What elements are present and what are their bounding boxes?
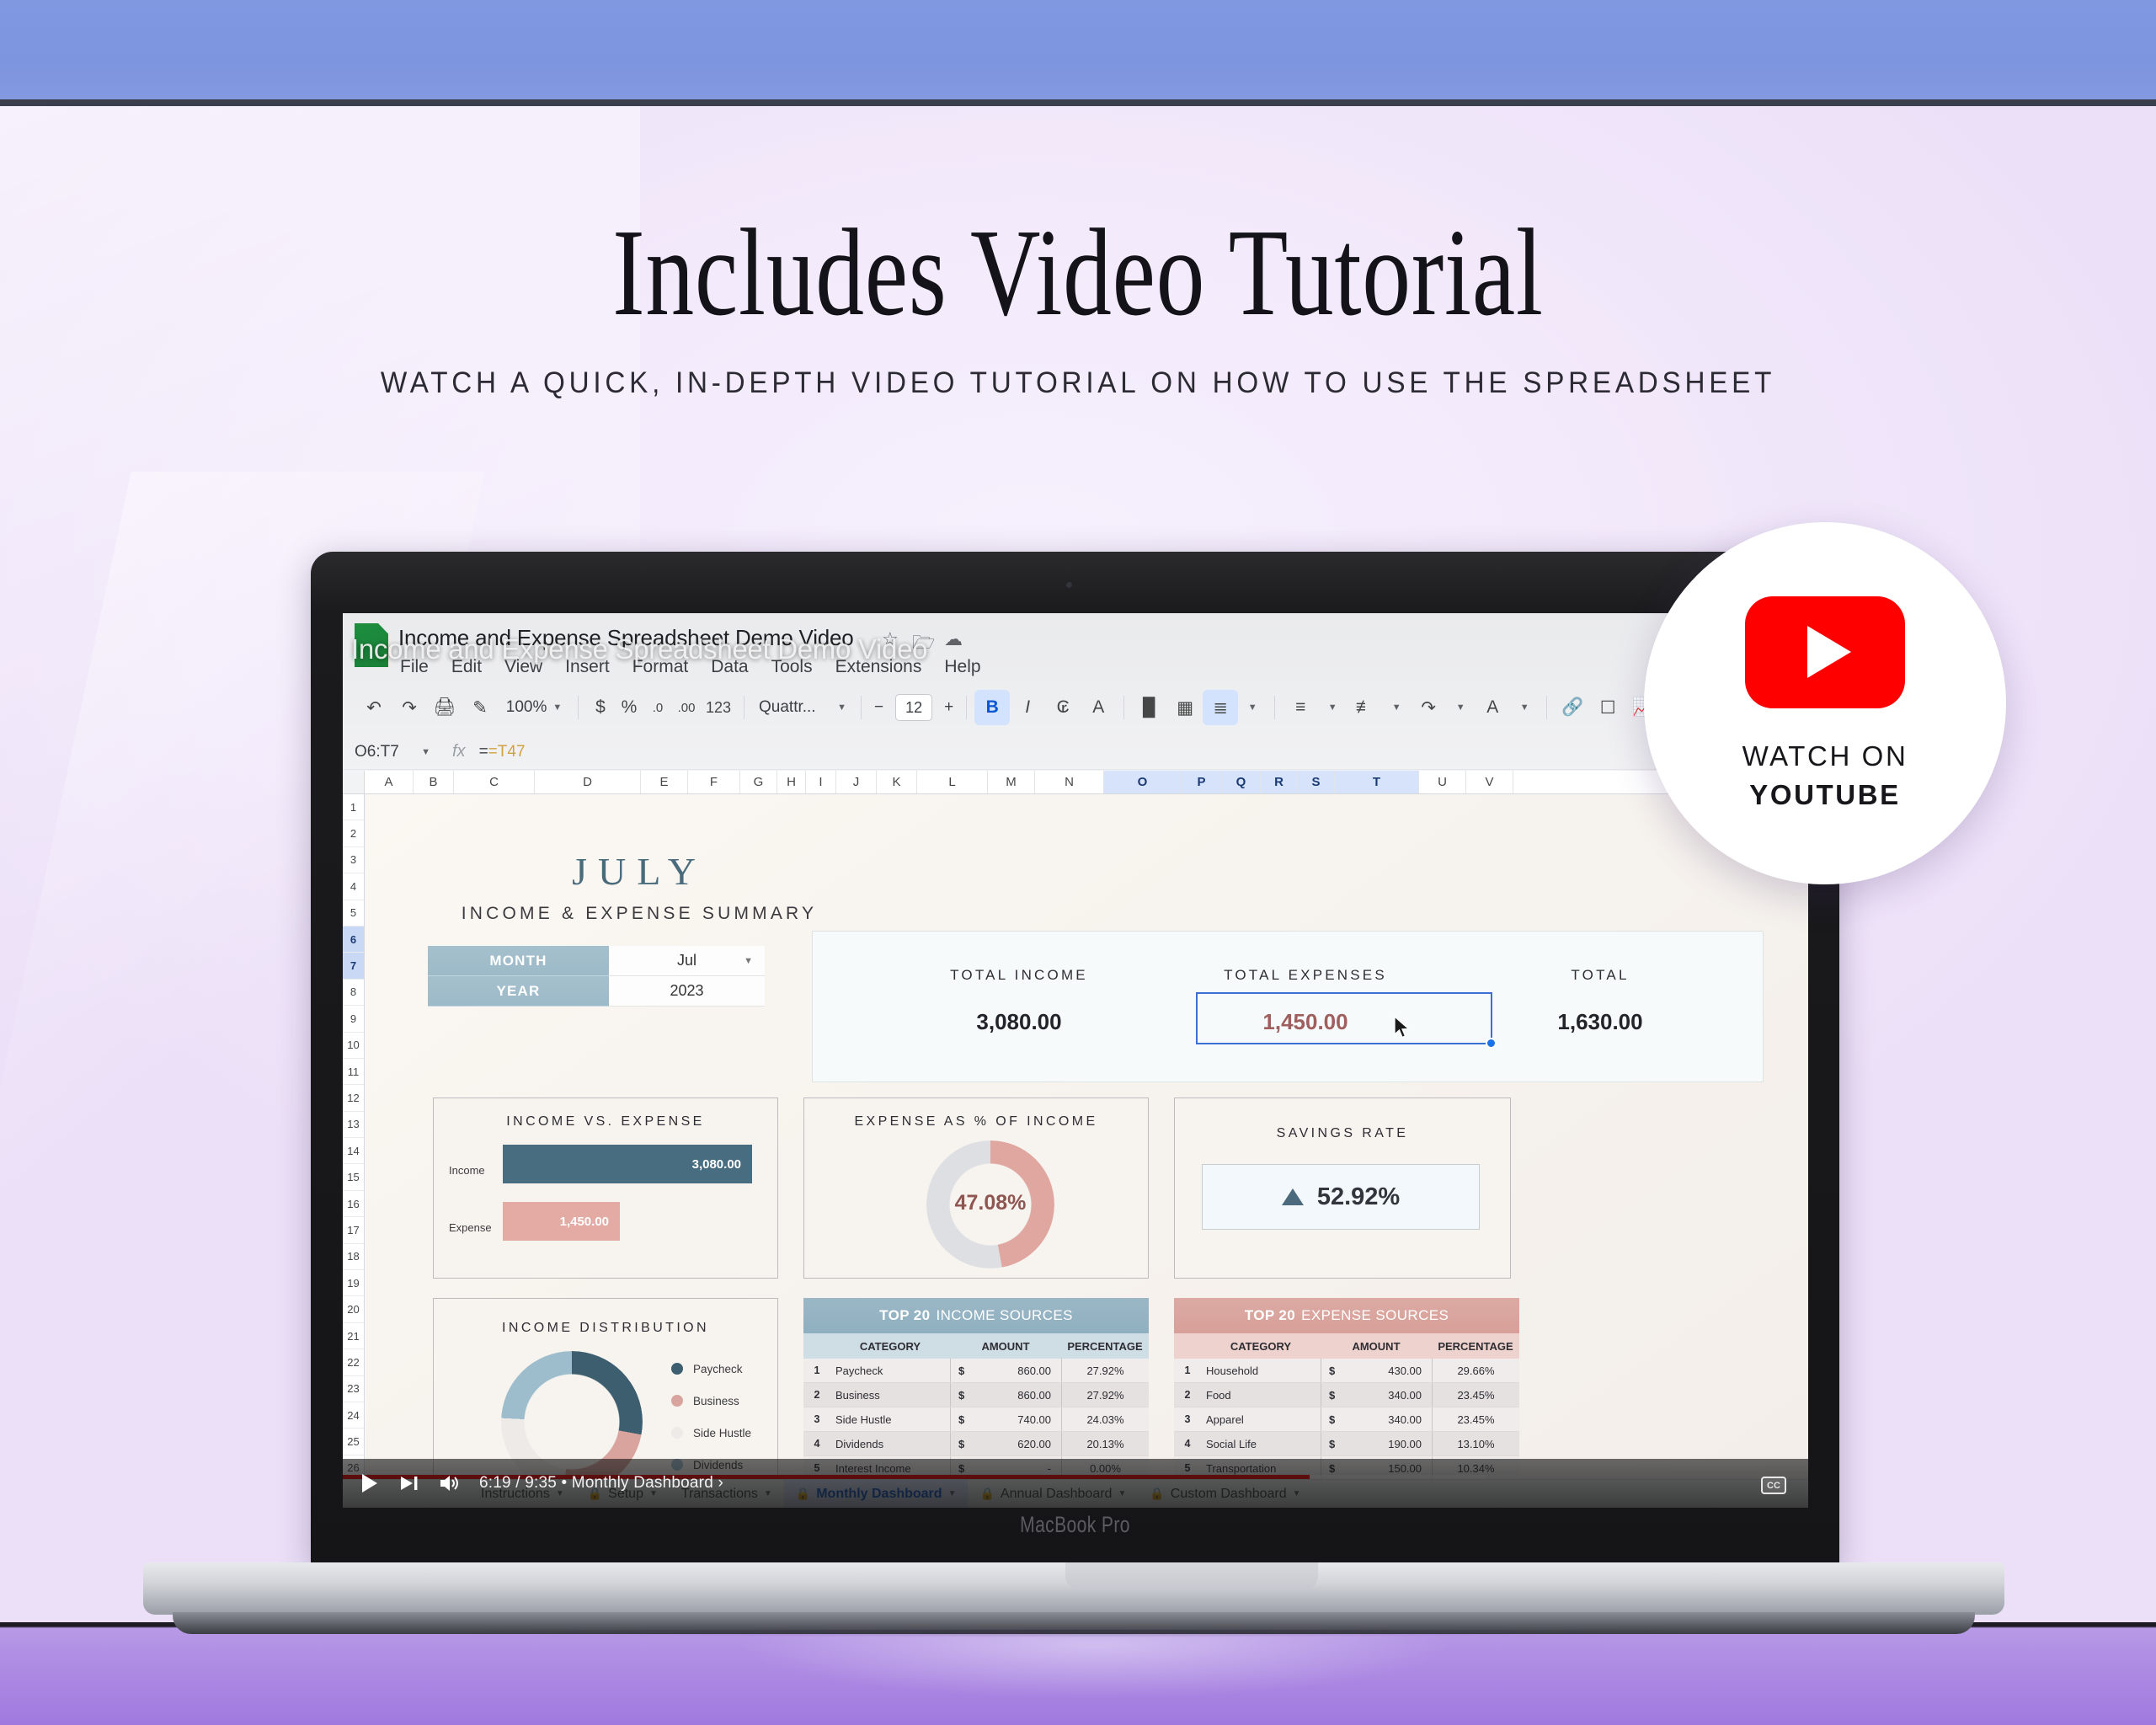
income-table-title-rest: INCOME SOURCES [936,1307,1072,1324]
row-index: 2 [803,1389,830,1401]
column-header-s[interactable]: S [1298,771,1335,793]
total-income-label: TOTAL INCOME [863,967,1175,984]
row-header-12[interactable]: 12 [343,1085,364,1111]
column-header-k[interactable]: K [877,771,917,793]
currency-symbol: $ [951,1438,973,1450]
decrease-decimal-icon[interactable]: .0 [643,690,672,725]
row-header-7[interactable]: 7 [343,953,364,979]
table-row: 1Paycheck$860.0027.92% [803,1359,1149,1383]
zoom-value: 100% [506,698,547,717]
bar-category-income: Income [449,1164,485,1177]
legend-item: Business [671,1390,751,1412]
amount-value: 430.00 [1343,1365,1432,1377]
income-distribution-title: INCOME DISTRIBUTION [434,1321,777,1336]
column-header-o[interactable]: O [1104,771,1182,793]
row-header-15[interactable]: 15 [343,1164,364,1190]
background-top-strip [0,0,2156,99]
row-header-11[interactable]: 11 [343,1059,364,1085]
row-header-14[interactable]: 14 [343,1138,364,1164]
font-size-value[interactable]: 12 [895,694,932,721]
laptop-base-notch [1065,1562,1318,1589]
insert-link-icon[interactable]: 🔗 [1555,690,1590,725]
increase-font-size-icon[interactable]: + [939,698,958,717]
legend-swatch-side-hustle [671,1427,683,1439]
legend-label-side-hustle: Side Hustle [693,1427,751,1439]
total-value: 1,630.00 [1478,1009,1722,1035]
column-header-u[interactable]: U [1419,771,1466,793]
column-header-v[interactable]: V [1466,771,1513,793]
row-amount: $620.00 [950,1432,1061,1455]
row-header-18[interactable]: 18 [343,1244,364,1270]
amount-value: 190.00 [1343,1438,1432,1450]
income-header-percentage: PERCENTAGE [1061,1340,1149,1353]
zoom-selector[interactable]: 100% ▼ [498,693,570,722]
font-family-selector[interactable]: Quattr... ▼ [752,693,853,722]
expense-table-title-rest: EXPENSE SOURCES [1301,1307,1449,1324]
more-formats-icon[interactable]: 123 [701,690,736,725]
redo-icon[interactable]: ↷ [392,690,427,725]
laptop-screen: Income and Expense Spreadsheet Demo Vide… [343,613,1808,1508]
total-income-value: 3,080.00 [863,1009,1175,1035]
column-headers: ABCDEFGHIJKLMNOPQRSTUV [343,771,1808,794]
column-header-h[interactable]: H [777,771,806,793]
currency-symbol: $ [1321,1438,1343,1450]
row-percentage: 24.03% [1061,1407,1149,1431]
chevron-down-icon: ▼ [744,956,753,966]
row-header-10[interactable]: 10 [343,1033,364,1059]
chevron-down-icon: ▼ [421,747,430,757]
toolbar-divider-2 [744,696,744,719]
year-value-cell[interactable]: 2023 [609,976,765,1007]
row-header-1[interactable]: 1 [343,794,364,820]
decrease-font-size-icon[interactable]: − [869,698,889,717]
income-table-header-row: CATEGORY AMOUNT PERCENTAGE [803,1333,1149,1359]
row-index: 1 [803,1365,830,1376]
year-value: 2023 [670,982,703,1000]
amount-value: 860.00 [973,1365,1061,1377]
row-amount: $430.00 [1321,1359,1432,1382]
row-header-5[interactable]: 5 [343,900,364,927]
valign-dropdown-icon[interactable]: ▼ [1382,690,1411,725]
laptop-mockup: Income and Expense Spreadsheet Demo Vide… [303,552,1853,1638]
monthly-dashboard-sheet: JULY INCOME & EXPENSE SUMMARY MONTH Jul … [366,794,1808,1508]
table-row: 3Side Hustle$740.0024.03% [803,1407,1149,1432]
amount-value: 860.00 [973,1389,1061,1402]
toolbar-divider-3 [861,696,862,719]
increase-decimal-icon[interactable]: .00 [672,690,701,725]
dashboard-subtitle: INCOME & EXPENSE SUMMARY [433,904,846,924]
savings-rate-title: SAVINGS RATE [1175,1126,1510,1141]
row-header-13[interactable]: 13 [343,1112,364,1138]
currency-symbol: $ [1321,1389,1343,1402]
rotation-dropdown-icon[interactable]: ▼ [1510,690,1539,725]
income-vs-expense-card: INCOME VS. EXPENSE Income 3,080.00 Expen… [433,1097,778,1279]
row-index: 3 [1174,1413,1201,1425]
paint-format-icon[interactable]: ✎ [462,690,498,725]
row-percentage: 27.92% [1061,1359,1149,1382]
print-icon[interactable]: 🖨 [427,690,462,725]
income-header-category: CATEGORY [830,1340,950,1353]
column-header-d[interactable]: D [535,771,641,793]
volume-icon[interactable] [439,1473,461,1493]
font-family-value: Quattr... [759,698,816,717]
badge-line-2: YOUTUBE [1749,779,1901,811]
row-index: 4 [1174,1438,1201,1450]
expense-header-category: CATEGORY [1201,1340,1321,1353]
income-table-title: TOP 20 INCOME SOURCES [803,1298,1149,1333]
income-vs-expense-title: INCOME VS. EXPENSE [434,1114,777,1130]
row-category: Side Hustle [830,1413,950,1426]
column-header-t[interactable]: T [1335,771,1419,793]
row-header-16[interactable]: 16 [343,1191,364,1217]
legend-item: Paycheck [671,1358,751,1380]
totals-panel: TOTAL INCOME 3,080.00 TOTAL EXPENSES 1,4… [812,931,1764,1082]
arrow-up-icon [1282,1188,1304,1205]
currency-symbol: $ [1321,1365,1343,1377]
row-index: 1 [1174,1365,1201,1376]
percent-format-icon[interactable]: % [615,690,643,725]
sheets-titlebar: Income and Expense Spreadsheet Demo Vide… [343,613,1808,674]
watch-on-youtube-badge[interactable]: WATCH ON YOUTUBE [1644,522,2006,884]
table-row: 3Apparel$340.0023.45% [1174,1407,1519,1432]
column-header-g[interactable]: G [740,771,777,793]
merge-dropdown-icon[interactable]: ▼ [1238,690,1267,725]
legend-swatch-business [671,1395,683,1407]
bar-category-expense: Expense [449,1221,492,1234]
formula-value: =T47 [488,743,526,761]
legend-label-paycheck: Paycheck [693,1363,743,1375]
row-header-21[interactable]: 21 [343,1323,364,1349]
currency-format-icon[interactable]: $ [586,690,615,725]
video-controls-bar: 6:19 / 9:35 • Monthly Dashboard › [343,1459,1808,1508]
chevron-down-icon: ▼ [552,702,562,713]
strikethrough-icon[interactable]: ₢ [1045,690,1081,725]
bar-expense: 1,450.00 [503,1202,620,1241]
row-amount: $860.00 [950,1383,1061,1407]
total-label: TOTAL [1478,967,1722,984]
amount-value: 740.00 [973,1413,1061,1426]
row-header-19[interactable]: 19 [343,1270,364,1296]
row-category: Food [1201,1389,1321,1402]
row-header-23[interactable]: 23 [343,1376,364,1402]
income-header-amount: AMOUNT [950,1340,1061,1353]
row-category: Social Life [1201,1438,1321,1450]
expense-table-header-row: CATEGORY AMOUNT PERCENTAGE [1174,1333,1519,1359]
row-header-2[interactable]: 2 [343,820,364,846]
bold-icon[interactable]: B [974,690,1010,725]
background-top-edge [0,99,2156,106]
table-row: 4Social Life$190.0013.10% [1174,1432,1519,1456]
toolbar-divider [578,696,579,719]
currency-symbol: $ [951,1413,973,1426]
select-all-corner[interactable] [343,771,365,793]
play-icon[interactable] [360,1472,380,1494]
expense-table-title: TOP 20 EXPENSE SOURCES [1174,1298,1519,1333]
currency-symbol: $ [951,1365,973,1377]
row-header-4[interactable]: 4 [343,873,364,900]
amount-value: 620.00 [973,1438,1061,1450]
year-label: YEAR [428,976,609,1007]
column-header-i[interactable]: I [806,771,836,793]
month-dropdown[interactable]: Jul ▼ [609,946,765,976]
selected-cell-range-outline[interactable] [1196,992,1492,1044]
row-category: Household [1201,1365,1321,1377]
page-title: Includes Video Tutorial [237,211,1919,335]
legend-swatch-paycheck [671,1363,683,1375]
column-header-r[interactable]: R [1261,771,1298,793]
next-video-icon[interactable] [398,1474,420,1493]
merge-cells-icon[interactable]: ≣ [1203,690,1238,725]
horizontal-align-icon[interactable]: ≡ [1283,690,1318,725]
row-category: Paycheck [830,1365,950,1377]
currency-symbol: $ [951,1389,973,1402]
insert-comment-icon[interactable]: ☐ [1590,690,1625,725]
total-expenses-label: TOTAL EXPENSES [1150,967,1461,984]
halign-dropdown-icon[interactable]: ▼ [1318,690,1347,725]
name-box-value: O6:T7 [355,743,399,761]
row-index: 4 [803,1438,830,1450]
google-sheets-app: Income and Expense Spreadsheet Demo Vide… [343,613,1808,1508]
column-header-e[interactable]: E [641,771,688,793]
amount-value: 340.00 [1343,1413,1432,1426]
sheets-toolbar: ↶ ↷ 🖨 ✎ 100% ▼ $ % .0 .00 123 Quattr... … [343,684,1808,731]
webcam-icon [1066,582,1072,588]
row-amount: $740.00 [950,1407,1061,1431]
undo-icon[interactable]: ↶ [356,690,392,725]
borders-icon[interactable]: ▦ [1167,690,1203,725]
row-header-8[interactable]: 8 [343,980,364,1006]
row-percentage: 23.45% [1432,1407,1519,1431]
table-row: 1Household$430.0029.66% [1174,1359,1519,1383]
text-wrap-icon[interactable]: ↷ [1411,690,1446,725]
fill-color-icon[interactable]: ▉ [1132,690,1167,725]
currency-symbol: $ [1321,1413,1343,1426]
vertical-align-icon[interactable]: ≢ [1347,690,1382,725]
row-amount: $340.00 [1321,1407,1432,1431]
font-size-stepper[interactable]: − 12 + [869,694,958,721]
month-year-selector: MONTH Jul ▼ YEAR 2023 [428,946,765,1007]
row-amount: $340.00 [1321,1383,1432,1407]
formula-bar: O6:T7 ▼ fx ==T47 [343,734,1808,770]
row-header-24[interactable]: 24 [343,1402,364,1429]
table-row: 2Food$340.0023.45% [1174,1383,1519,1407]
income-table-title-bold: TOP 20 [879,1307,930,1324]
row-amount: $860.00 [950,1359,1061,1382]
expense-percent-title: EXPENSE AS % OF INCOME [804,1114,1148,1130]
row-percentage: 13.10% [1432,1432,1519,1455]
month-value: Jul [677,952,696,969]
toolbar-divider-4 [966,696,967,719]
savings-rate-value-box: 52.92% [1202,1164,1480,1230]
column-header-q[interactable]: Q [1222,771,1261,793]
expense-header-amount: AMOUNT [1321,1340,1432,1353]
row-index: 2 [1174,1389,1201,1401]
column-header-l[interactable]: L [917,771,988,793]
expense-table-title-bold: TOP 20 [1245,1307,1295,1324]
text-rotation-icon[interactable]: A [1475,690,1510,725]
column-header-n[interactable]: N [1035,771,1104,793]
row-category: Dividends [830,1438,950,1450]
text-color-icon[interactable]: A [1081,690,1116,725]
fill-handle[interactable] [1486,1038,1497,1049]
column-header-c[interactable]: C [454,771,535,793]
row-category: Business [830,1389,950,1402]
table-row: 4Dividends$620.0020.13% [803,1432,1149,1456]
month-label: MONTH [428,946,609,976]
toolbar-divider-7 [1546,696,1547,719]
expense-header-percentage: PERCENTAGE [1432,1340,1519,1353]
column-header-f[interactable]: F [688,771,740,793]
row-index: 3 [803,1413,830,1425]
row-percentage: 23.45% [1432,1383,1519,1407]
formula-input[interactable]: ==T47 [479,743,526,761]
video-title-overlay: Income and Expense Spreadsheet Demo Vide… [351,633,1362,665]
row-percentage: 20.13% [1061,1432,1149,1455]
toolbar-divider-6 [1274,696,1275,719]
year-row: YEAR 2023 [428,976,765,1007]
badge-line-1: WATCH ON [1742,740,1908,772]
row-header-20[interactable]: 20 [343,1296,364,1322]
amount-value: 340.00 [1343,1389,1432,1402]
name-box[interactable]: O6:T7 ▼ [343,743,442,761]
expense-percent-value: 47.08% [926,1191,1054,1215]
youtube-logo-icon [1745,596,1905,708]
row-header-9[interactable]: 9 [343,1006,364,1032]
row-header-25[interactable]: 25 [343,1429,364,1455]
row-percentage: 27.92% [1061,1383,1149,1407]
table-row: 2Business$860.0027.92% [803,1383,1149,1407]
bar-income: 3,080.00 [503,1145,752,1183]
column-header-p[interactable]: P [1182,771,1222,793]
chevron-down-icon: ▼ [837,702,846,713]
row-header-22[interactable]: 22 [343,1349,364,1375]
legend-item: Side Hustle [671,1422,751,1444]
row-header-6[interactable]: 6 [343,927,364,953]
row-amount: $190.00 [1321,1432,1432,1455]
function-icon: fx [452,742,466,761]
play-triangle-icon [1807,626,1851,678]
expense-percent-card: EXPENSE AS % OF INCOME 47.08% [803,1097,1149,1279]
wrap-dropdown-icon[interactable]: ▼ [1446,690,1475,725]
row-percentage: 29.66% [1432,1359,1519,1382]
page-subtitle: WATCH A QUICK, IN-DEPTH VIDEO TUTORIAL O… [54,366,2102,400]
video-time-display: 6:19 / 9:35 • Monthly Dashboard › [479,1474,723,1493]
toolbar-divider-5 [1123,696,1124,719]
dashboard-month-title: JULY [458,849,820,894]
savings-rate-value: 52.92% [1317,1183,1400,1211]
laptop-model-label: MacBook Pro [473,1512,1678,1538]
row-header-3[interactable]: 3 [343,847,364,873]
column-header-b[interactable]: B [414,771,454,793]
month-row: MONTH Jul ▼ [428,946,765,976]
italic-icon[interactable]: I [1010,690,1045,725]
total-income-block: TOTAL INCOME 3,080.00 [863,967,1175,1035]
column-header-a[interactable]: A [365,771,414,793]
row-category: Apparel [1201,1413,1321,1426]
row-header-17[interactable]: 17 [343,1217,364,1243]
column-header-j[interactable]: J [836,771,877,793]
row-headers: 1234567891011121314151617181920212223242… [343,794,365,1508]
column-header-m[interactable]: M [988,771,1035,793]
legend-label-business: Business [693,1395,739,1407]
laptop-base-shadow [168,1630,1979,1647]
total-net-block: TOTAL 1,630.00 [1478,967,1722,1035]
closed-captions-icon[interactable]: CC [1761,1477,1786,1494]
savings-rate-card: SAVINGS RATE 52.92% [1174,1097,1511,1279]
